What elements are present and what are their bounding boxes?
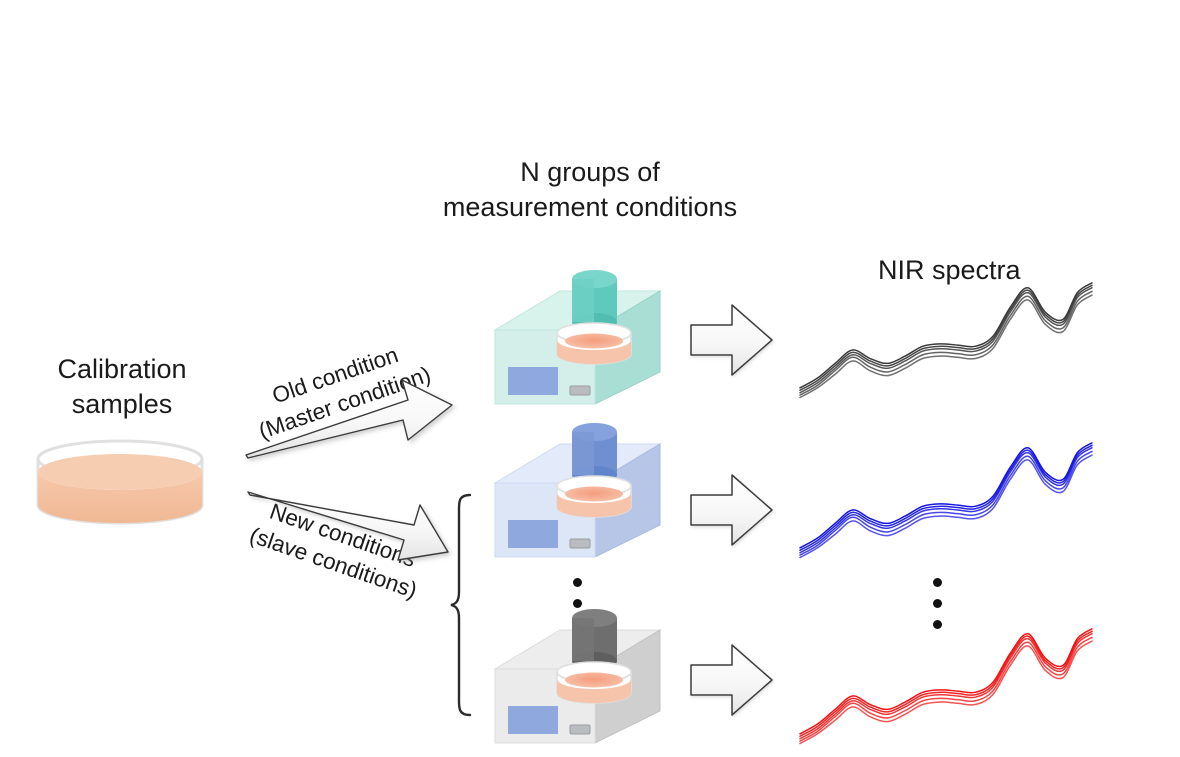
figure-canvas: N groups ofmeasurement conditions Calibr…	[0, 0, 1180, 757]
instrument-slave-1	[495, 423, 660, 557]
spectrum-curve	[800, 631, 1092, 736]
spectrum-curve	[800, 288, 1092, 393]
spectrum-curve	[800, 285, 1092, 390]
old-condition-label: Old condition(Master condition)	[228, 326, 451, 452]
spectra-master	[800, 283, 1092, 398]
instrument-display	[508, 706, 558, 734]
light-beam	[579, 300, 611, 345]
probe-top	[572, 270, 617, 288]
spectra-slave-1	[800, 443, 1092, 558]
spectrum-curve	[800, 629, 1092, 734]
ellipsis-dot	[573, 620, 582, 629]
instrument-master	[495, 270, 660, 404]
page-title-line1: N groups of	[520, 157, 660, 187]
arrow-to-master-spectra	[691, 305, 772, 375]
spectrum-curve	[800, 291, 1092, 395]
instrument-button	[570, 725, 590, 734]
light-beam	[579, 453, 611, 498]
calibration-samples-line1: Calibration	[57, 354, 186, 384]
nir-spectra-plots	[800, 283, 1092, 744]
ellipsis-spectra	[933, 578, 943, 641]
spectrum-curve	[800, 445, 1092, 550]
instrument-display	[508, 367, 558, 395]
spectra-slave-n	[800, 629, 1092, 744]
probe-body	[572, 432, 617, 475]
stage-petri-dish	[557, 662, 631, 703]
calibration-samples-label: Calibrationsamples	[14, 352, 230, 421]
spectrum-curve	[800, 448, 1092, 553]
spectrum-curve	[800, 634, 1092, 739]
ellipsis-dot	[573, 599, 582, 608]
light-beam	[579, 639, 611, 684]
ellipsis-instruments	[573, 578, 583, 641]
instrument-display	[508, 520, 558, 548]
stage-petri-dish	[557, 476, 631, 517]
nir-spectra-label: NIR spectra	[878, 253, 1021, 288]
slave-conditions-brace	[451, 495, 470, 715]
calibration-samples-line2: samples	[72, 389, 173, 419]
probe-top	[572, 423, 617, 441]
page-title: N groups ofmeasurement conditions	[0, 155, 1180, 224]
ellipsis-dot	[933, 620, 942, 629]
page-title-line2: measurement conditions	[0, 190, 1180, 225]
ellipsis-dot	[933, 599, 942, 608]
instrument-button	[570, 386, 590, 395]
spectrum-curve	[800, 295, 1092, 397]
ellipsis-dot	[573, 578, 582, 587]
probe-body	[572, 279, 617, 322]
arrow-to-slave1-spectra	[691, 475, 772, 545]
new-conditions-label: New conditions(slave conditions)	[226, 486, 449, 612]
spectrum-curve	[800, 443, 1092, 548]
spectrum-curve	[800, 455, 1092, 557]
spectrum-curve	[800, 637, 1092, 741]
arrow-to-slaven-spectra	[691, 645, 772, 715]
spectrum-curve	[800, 451, 1092, 555]
stage-petri-dish	[557, 323, 631, 364]
spectrum-curve	[800, 641, 1092, 743]
spectrum-curve	[800, 283, 1092, 388]
petri-dish-icon	[38, 441, 202, 523]
instrument-button	[570, 539, 590, 548]
ellipsis-dot	[933, 578, 942, 587]
